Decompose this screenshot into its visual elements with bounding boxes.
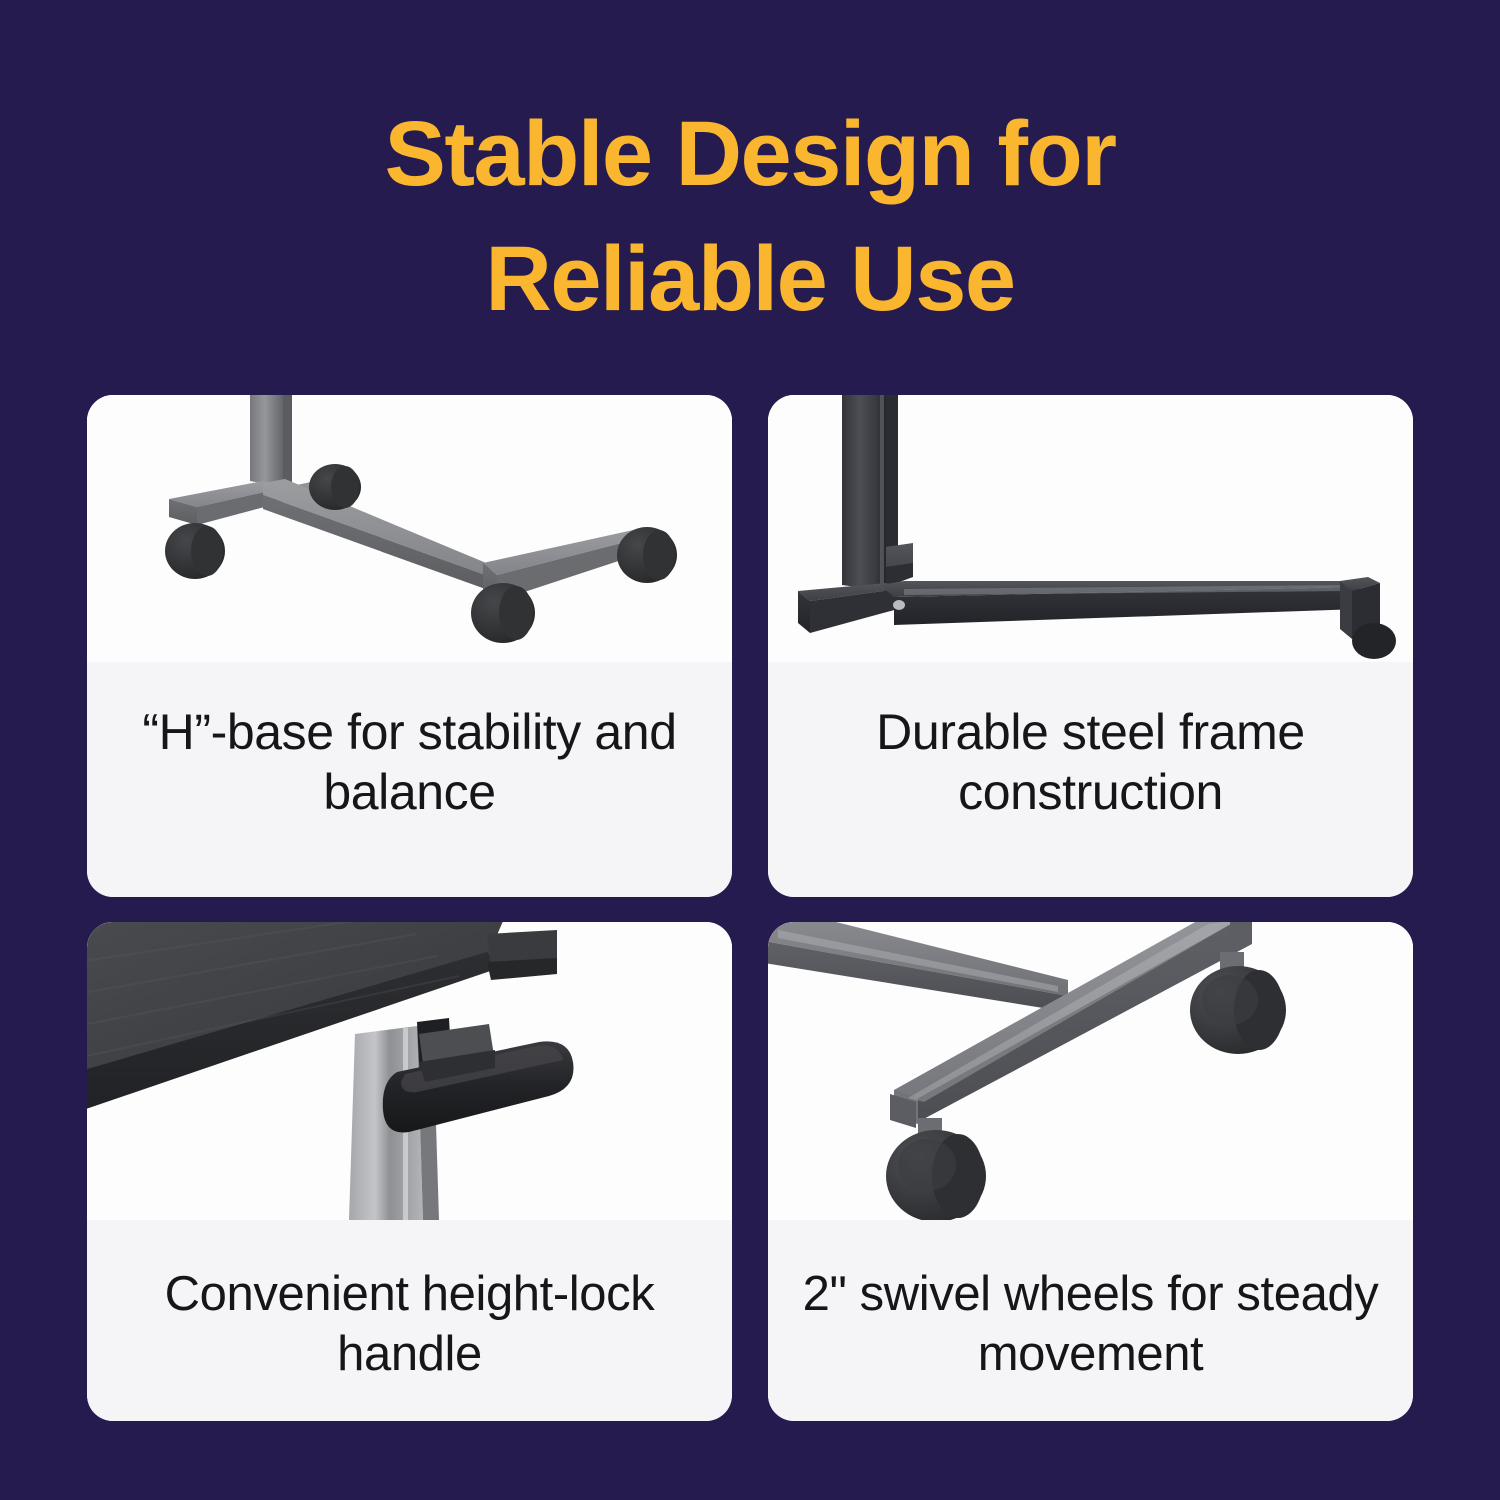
page-title-line-2: Reliable Use (0, 217, 1500, 342)
steel-frame-construction-photo (768, 395, 1413, 662)
feature-card-swivel-wheels[interactable]: 2" swivel wheels for steady movement (768, 922, 1413, 1421)
feature-caption: “H”-base for stability and balance (121, 702, 698, 822)
feature-card-height-lock-handle[interactable]: Convenient height-lock handle (87, 922, 732, 1421)
feature-caption: Convenient height-lock handle (121, 1264, 698, 1384)
caption-area: “H”-base for stability and balance (87, 662, 732, 897)
infographic-poster: Stable Design for Reliable Use (0, 0, 1500, 1500)
caption-area: 2" swivel wheels for steady movement (768, 1220, 1413, 1421)
feature-card-grid: “H”-base for stability and balance (87, 395, 1413, 1421)
swivel-wheels-photo (768, 922, 1413, 1220)
caption-area: Durable steel frame construction (768, 662, 1413, 897)
page-title: Stable Design for Reliable Use (0, 92, 1500, 342)
height-lock-handle-photo (87, 922, 732, 1220)
feature-card-h-base[interactable]: “H”-base for stability and balance (87, 395, 732, 897)
h-base-with-casters-photo (87, 395, 732, 662)
caption-area: Convenient height-lock handle (87, 1220, 732, 1421)
feature-caption: Durable steel frame construction (802, 702, 1379, 822)
feature-caption: 2" swivel wheels for steady movement (802, 1264, 1379, 1384)
page-title-line-1: Stable Design for (0, 92, 1500, 217)
feature-card-steel-frame[interactable]: Durable steel frame construction (768, 395, 1413, 897)
